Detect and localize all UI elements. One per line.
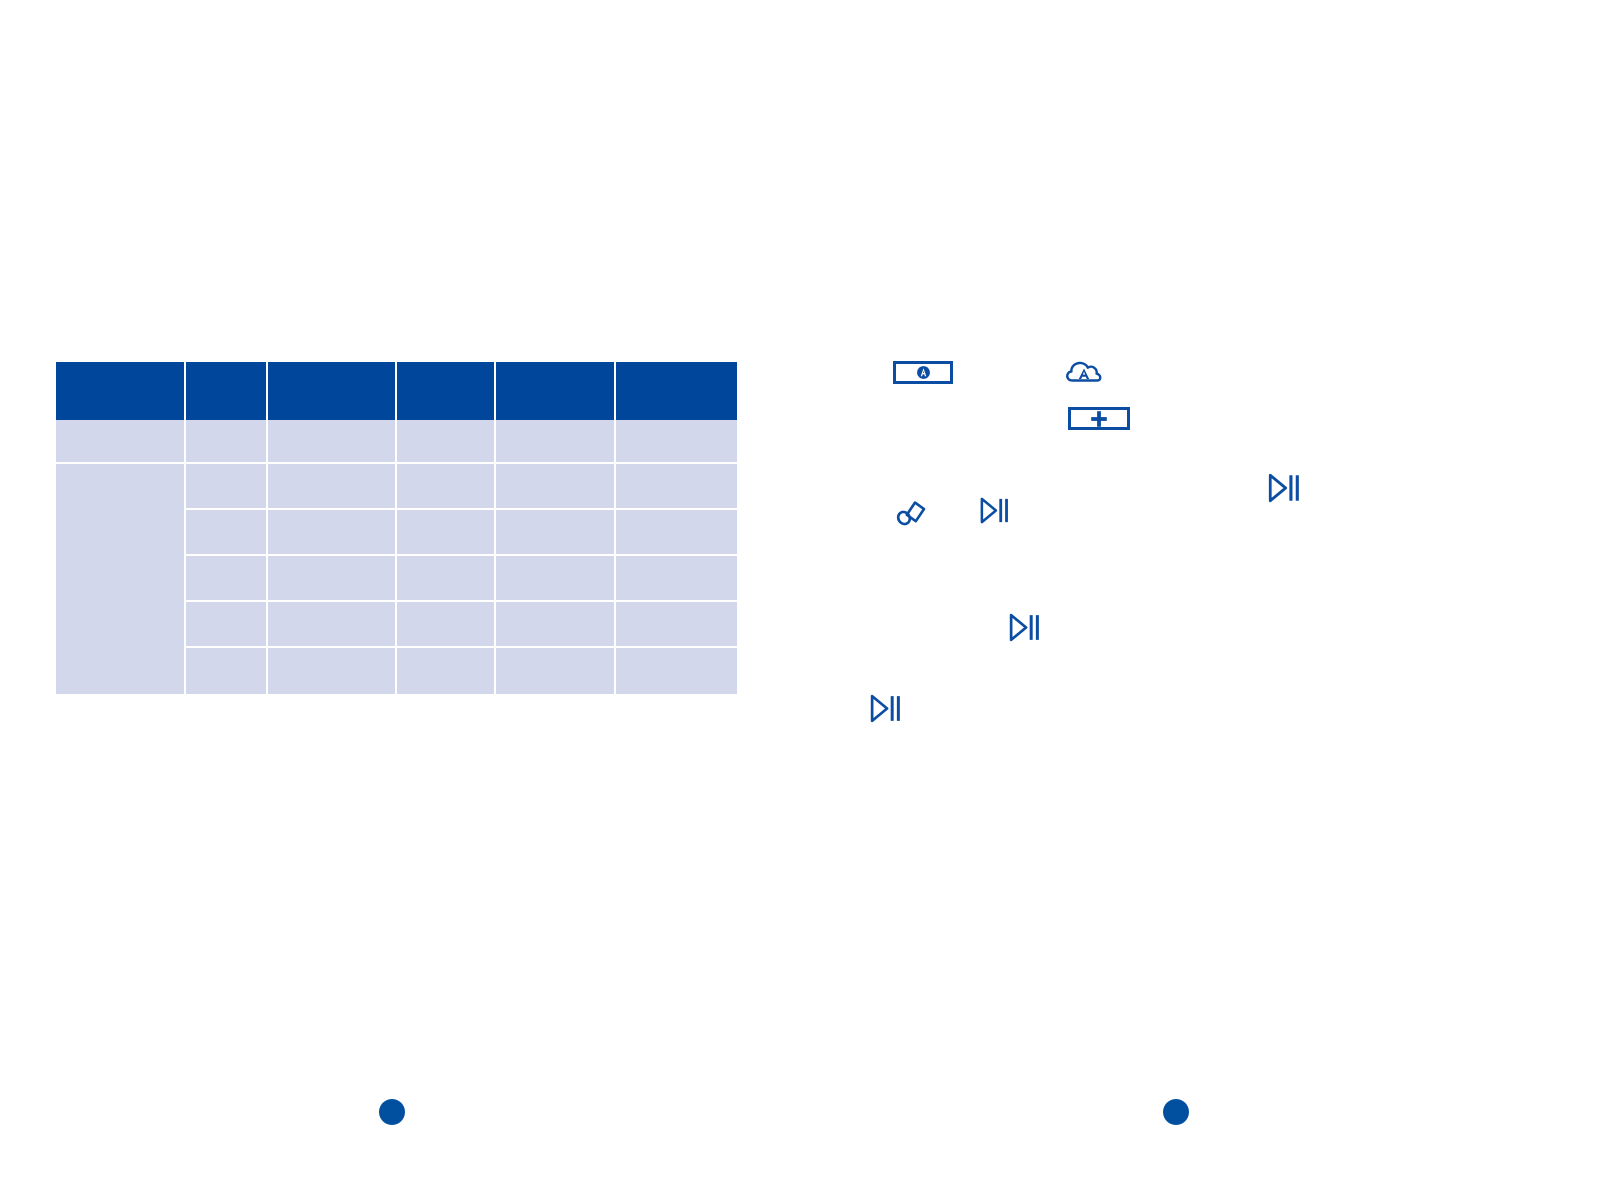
table-cell[interactable] bbox=[397, 510, 496, 556]
table-cell[interactable] bbox=[268, 648, 397, 694]
play-pause-icon[interactable] bbox=[1266, 471, 1300, 505]
play-pause-icon[interactable] bbox=[1007, 611, 1040, 644]
table-cell[interactable] bbox=[397, 420, 496, 464]
table-header-cell-5[interactable] bbox=[496, 362, 616, 420]
table-header-row bbox=[56, 362, 737, 420]
table-header-cell-6[interactable] bbox=[616, 362, 737, 420]
table-cell[interactable] bbox=[496, 648, 616, 694]
eraser-icon[interactable] bbox=[894, 494, 928, 528]
table-cell[interactable] bbox=[268, 556, 397, 602]
circle-a-icon bbox=[916, 365, 931, 380]
boxed-circle-a-button[interactable] bbox=[893, 361, 953, 384]
table-cell[interactable] bbox=[496, 602, 616, 648]
table-cell[interactable] bbox=[268, 420, 397, 464]
page-indicator-dot[interactable] bbox=[1163, 1099, 1189, 1125]
table-cell[interactable] bbox=[397, 648, 496, 694]
table-cell[interactable] bbox=[616, 420, 737, 464]
table-header-cell-1[interactable] bbox=[56, 362, 186, 420]
table-cell[interactable] bbox=[186, 648, 268, 694]
table-header-cell-3[interactable] bbox=[268, 362, 397, 420]
play-pause-icon[interactable] bbox=[978, 495, 1009, 526]
table-cell[interactable] bbox=[616, 648, 737, 694]
plus-icon bbox=[1090, 410, 1108, 428]
table-cell[interactable] bbox=[616, 464, 737, 510]
table-cell[interactable] bbox=[496, 464, 616, 510]
table-cell[interactable] bbox=[496, 556, 616, 602]
table-header bbox=[56, 362, 737, 420]
play-pause-icon[interactable] bbox=[868, 692, 901, 725]
table-cell[interactable] bbox=[268, 510, 397, 556]
table-cell[interactable] bbox=[268, 464, 397, 510]
table-cell[interactable] bbox=[616, 556, 737, 602]
boxed-plus-button[interactable] bbox=[1068, 407, 1130, 430]
table-row[interactable] bbox=[56, 464, 737, 510]
table-cell[interactable] bbox=[186, 602, 268, 648]
table-cell[interactable] bbox=[397, 556, 496, 602]
table-cell[interactable] bbox=[186, 464, 268, 510]
table-cell-merged-first-column[interactable] bbox=[56, 464, 186, 694]
table-cell[interactable] bbox=[186, 510, 268, 556]
table-cell[interactable] bbox=[616, 510, 737, 556]
table-cell[interactable] bbox=[186, 556, 268, 602]
table-cell[interactable] bbox=[268, 602, 397, 648]
table-header-cell-4[interactable] bbox=[397, 362, 496, 420]
data-table bbox=[56, 362, 737, 694]
table-cell[interactable] bbox=[616, 602, 737, 648]
table-cell[interactable] bbox=[397, 602, 496, 648]
table-row[interactable] bbox=[56, 420, 737, 464]
page-canvas bbox=[0, 0, 1616, 1191]
cloud-a-icon[interactable] bbox=[1065, 357, 1103, 385]
table-cell[interactable] bbox=[397, 464, 496, 510]
table-body bbox=[56, 420, 737, 694]
table-cell[interactable] bbox=[496, 510, 616, 556]
table-cell[interactable] bbox=[186, 420, 268, 464]
page-indicator-dot[interactable] bbox=[379, 1099, 405, 1125]
table-cell[interactable] bbox=[496, 420, 616, 464]
table-header-cell-2[interactable] bbox=[186, 362, 268, 420]
table-cell[interactable] bbox=[56, 420, 186, 464]
